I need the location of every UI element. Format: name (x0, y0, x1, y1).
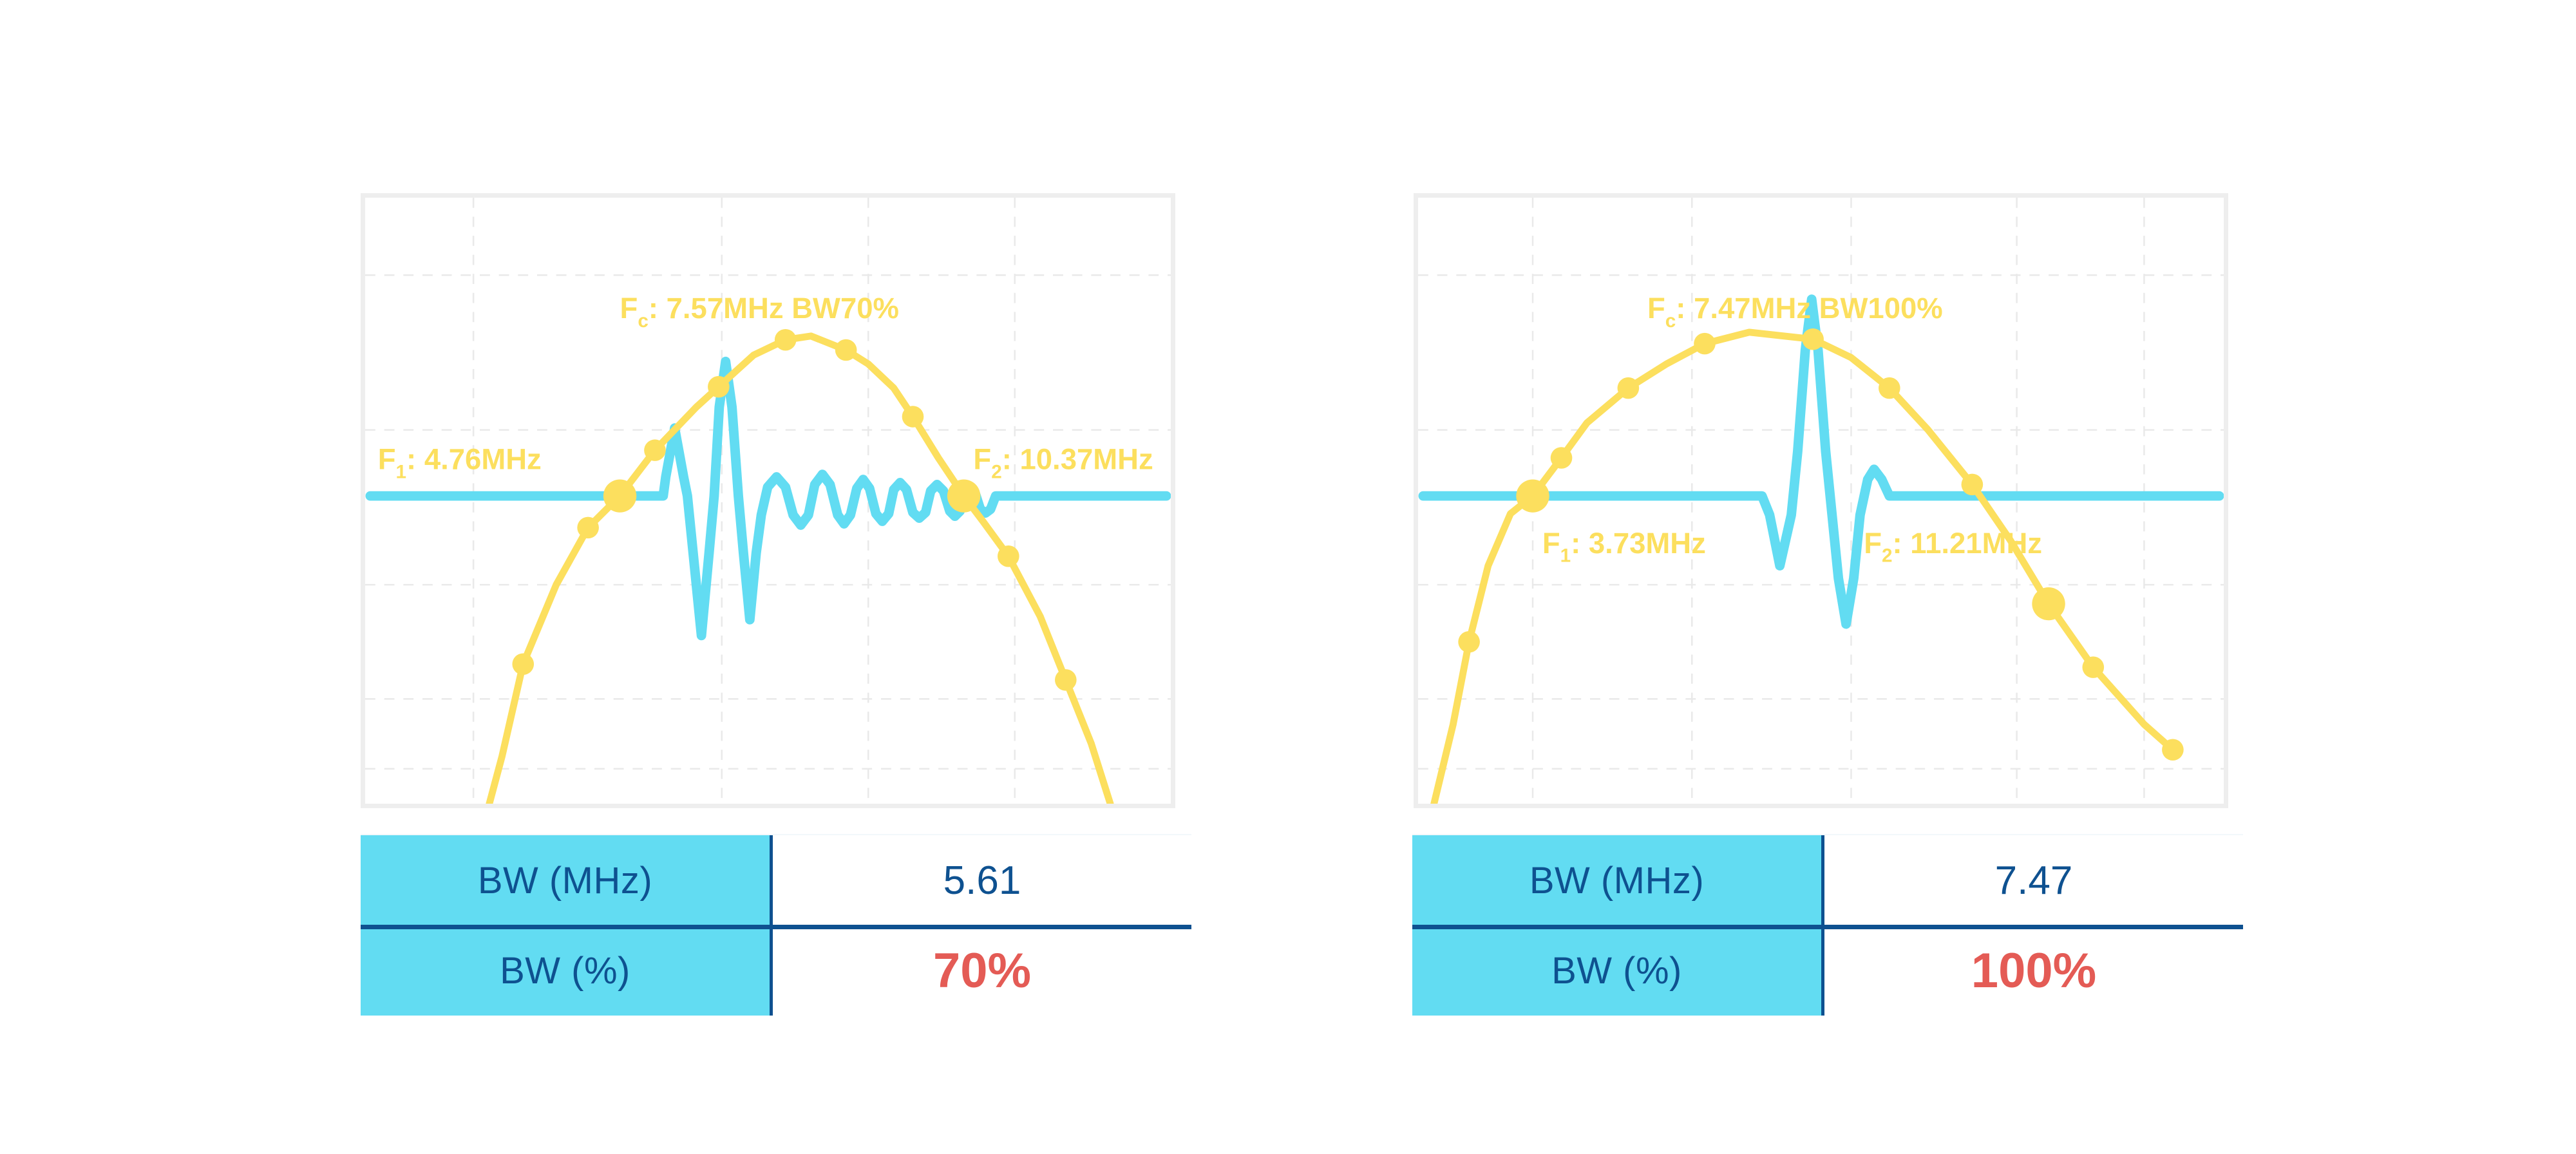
table-row: BW (MHz) 7.47 (1412, 834, 2243, 925)
bw-pct-value-left: 70% (933, 943, 1031, 999)
panel-left: Fc: 7.57MHz BW70% F1: 4.76MHz F2: 10.37M… (361, 193, 1175, 808)
bw-pct-label-right: BW (%) (1551, 949, 1682, 992)
bw-mhz-label-right: BW (MHz) (1529, 859, 1704, 902)
fc-sub-left: c (638, 310, 648, 332)
table-divider-left (361, 925, 1191, 929)
svg-text:F2: 10.37MHz: F2: 10.37MHz (973, 443, 1153, 483)
bw-mhz-key-cell-right: BW (MHz) (1412, 835, 1824, 925)
bw-mhz-label-left: BW (MHz) (478, 859, 652, 902)
bw-pct-value-cell-left: 70% (773, 925, 1191, 1016)
f2-rest-right: : 11.21MHz (1893, 527, 2043, 560)
bw-mhz-value-right: 7.47 (1995, 858, 2073, 903)
bw-mhz-value-left: 5.61 (943, 858, 1021, 903)
f1-rest-right: : 3.73MHz (1571, 527, 1706, 560)
fc-prefix-right: F (1647, 292, 1665, 325)
fc-rest-right: : 7.47MHz BW100% (1676, 292, 1942, 325)
bw-table-right: BW (MHz) 7.47 BW (%) 100% (1412, 834, 2243, 1016)
bw-pct-value-right: 100% (1971, 943, 2096, 999)
svg-text:Fc: 7.57MHz BW70%: Fc: 7.57MHz BW70% (620, 292, 899, 332)
table-row: BW (%) 100% (1412, 925, 2243, 1016)
annotation-f2-left: F2: 10.37MHz (973, 443, 1153, 483)
fc-prefix-left: F (620, 292, 638, 325)
annotation-f1-left: F1: 4.76MHz (378, 443, 542, 483)
bw-table-left: BW (MHz) 5.61 BW (%) 70% (361, 834, 1191, 1016)
f1-rest-left: : 4.76MHz (406, 443, 542, 476)
spectrum-curve-right (1434, 328, 2184, 804)
chart-box-right: Fc: 7.47MHz BW100% F1: 3.73MHz F2: 11.21… (1414, 193, 2228, 808)
f2-sub-left: 2 (991, 462, 1001, 483)
svg-text:F2: 11.21MHz: F2: 11.21MHz (1864, 527, 2042, 567)
annotation-fc-right: Fc: 7.47MHz BW100% (1647, 292, 1943, 332)
bw-pct-label-left: BW (%) (500, 949, 630, 992)
f2-rest-left: : 10.37MHz (1002, 443, 1153, 476)
f2-sub-right: 2 (1882, 545, 1892, 567)
table-divider-right (1412, 925, 2243, 929)
table-row: BW (%) 70% (361, 925, 1191, 1016)
fc-sub-right: c (1665, 310, 1676, 332)
f1-sub-left: 1 (396, 462, 406, 483)
spectrum-chart-left: Fc: 7.57MHz BW70% F1: 4.76MHz F2: 10.37M… (365, 198, 1171, 804)
annotation-f2-right: F2: 11.21MHz (1864, 527, 2042, 567)
table-row: BW (MHz) 5.61 (361, 834, 1191, 925)
f1-sub-right: 1 (1560, 545, 1571, 567)
spectrum-chart-right: Fc: 7.47MHz BW100% F1: 3.73MHz F2: 11.21… (1418, 198, 2224, 804)
bw-pct-key-cell-right: BW (%) (1412, 925, 1824, 1016)
f2-prefix-left: F (973, 443, 991, 476)
svg-text:F1: 4.76MHz: F1: 4.76MHz (378, 443, 542, 483)
bw-mhz-value-cell-left: 5.61 (773, 835, 1191, 925)
figure-stage: Fc: 7.57MHz BW70% F1: 4.76MHz F2: 10.37M… (0, 0, 2576, 1154)
panel-right: Fc: 7.47MHz BW100% F1: 3.73MHz F2: 11.21… (1414, 193, 2228, 808)
bw-mhz-value-cell-right: 7.47 (1824, 835, 2243, 925)
f2-prefix-right: F (1864, 527, 1882, 560)
svg-text:F1: 3.73MHz: F1: 3.73MHz (1542, 527, 1706, 567)
pulse-waveform-left (370, 361, 1166, 636)
spectrum-curve-left (489, 329, 1110, 804)
annotation-f1-right: F1: 3.73MHz (1542, 527, 1706, 567)
annotation-fc-left: Fc: 7.57MHz BW70% (620, 292, 899, 332)
f1-prefix-right: F (1542, 527, 1560, 560)
chart-box-left: Fc: 7.57MHz BW70% F1: 4.76MHz F2: 10.37M… (361, 193, 1175, 808)
pulse-waveform-right (1423, 299, 2219, 624)
bw-mhz-key-cell-left: BW (MHz) (361, 835, 773, 925)
bw-pct-value-cell-right: 100% (1824, 925, 2243, 1016)
svg-text:Fc: 7.47MHz BW100%: Fc: 7.47MHz BW100% (1647, 292, 1943, 332)
f1-prefix-left: F (378, 443, 396, 476)
fc-rest-left: : 7.57MHz BW70% (649, 292, 899, 325)
bw-pct-key-cell-left: BW (%) (361, 925, 773, 1016)
